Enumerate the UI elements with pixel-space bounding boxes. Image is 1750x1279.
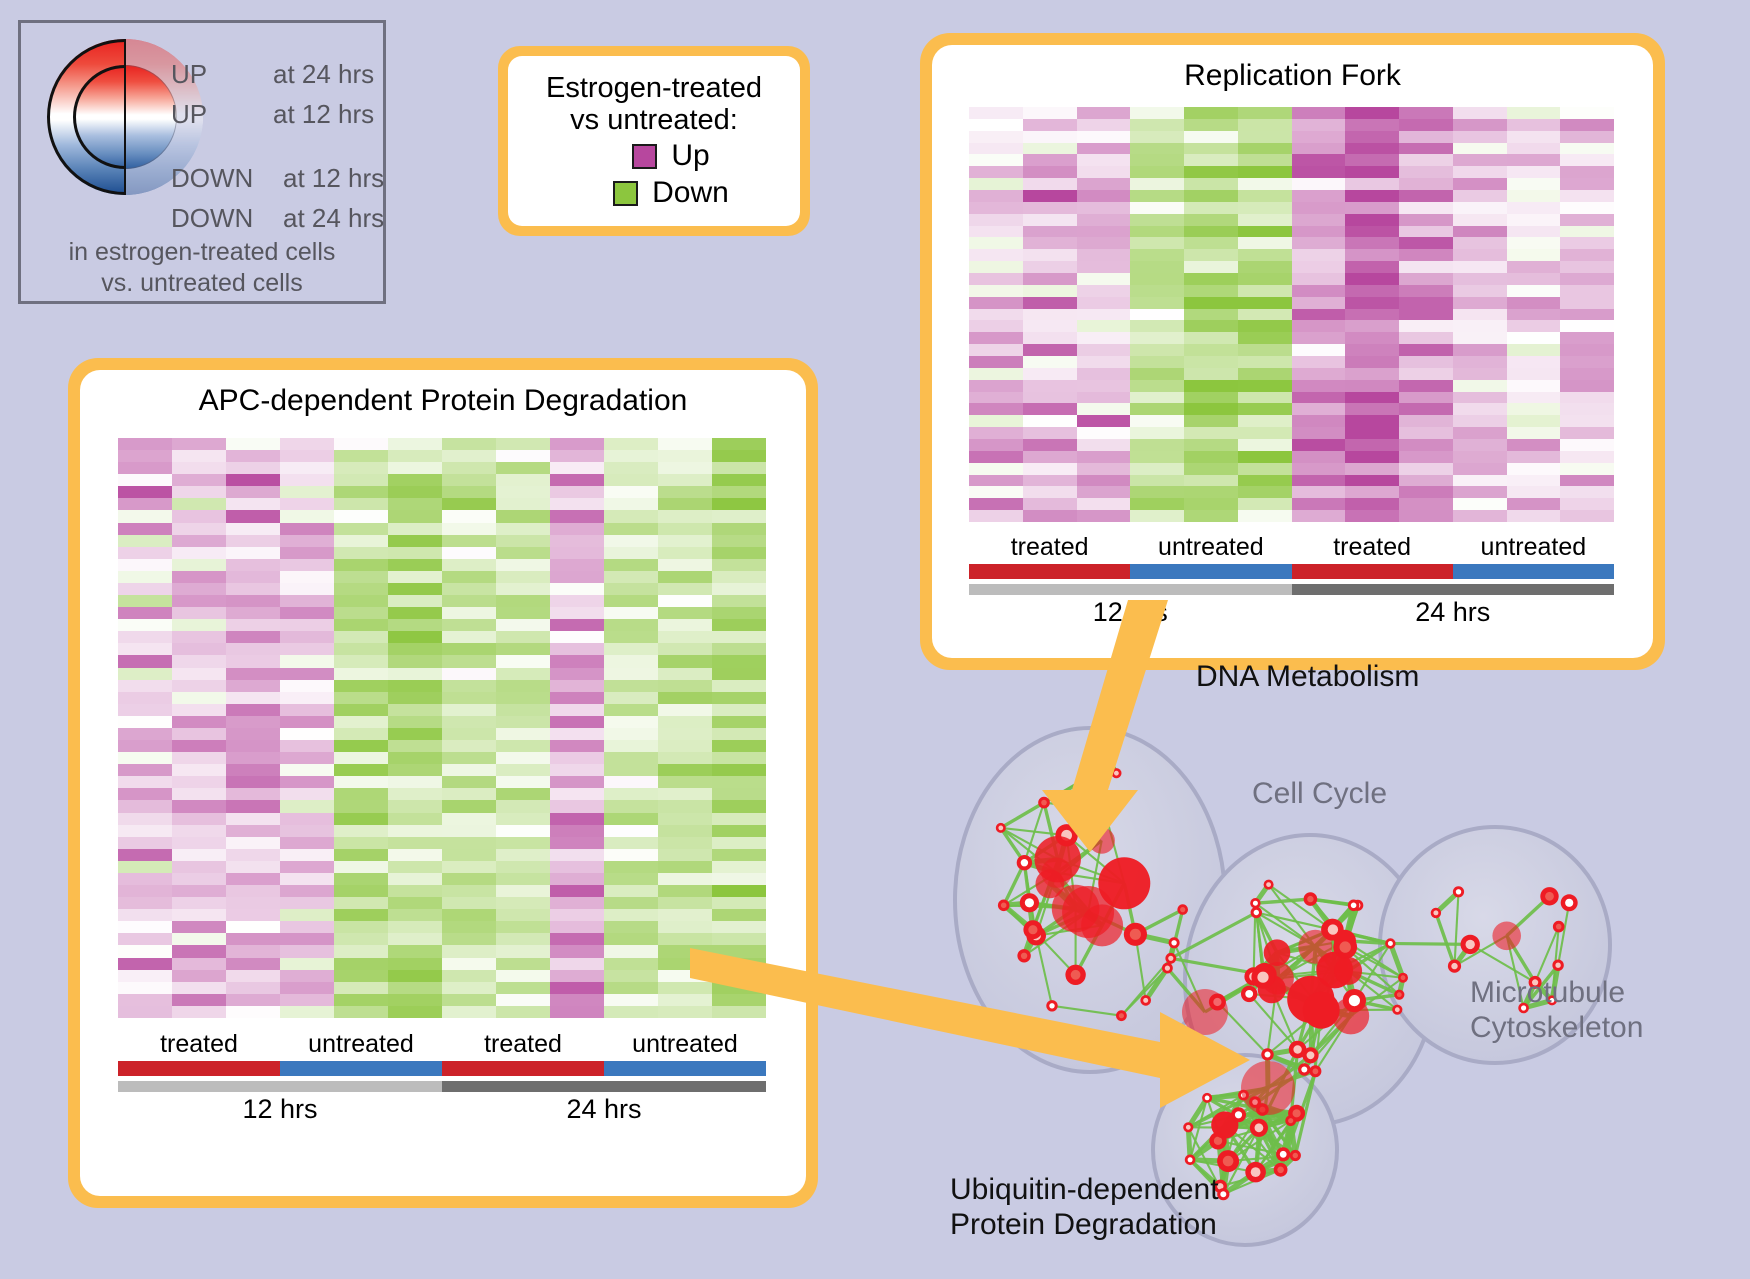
heatmap-cell	[1345, 427, 1399, 439]
heatmap-cell	[1184, 190, 1238, 202]
heatmap-cell	[550, 474, 604, 486]
heatmap-cell	[712, 547, 766, 559]
heatmap-cell	[1507, 273, 1561, 285]
heatmap-cell	[1507, 320, 1561, 332]
heatmap-cell	[1238, 332, 1292, 344]
heatmap-cell	[1184, 463, 1238, 475]
heatmap-cell	[1399, 368, 1453, 380]
heatmap-cell	[1507, 380, 1561, 392]
heatmap-cell	[334, 643, 388, 655]
heatmap-cell	[1238, 463, 1292, 475]
heatmap-cell	[226, 800, 280, 812]
treatment-bar-apc	[118, 1061, 766, 1076]
heatmap-cell	[1507, 309, 1561, 321]
heatmap-cell	[388, 873, 442, 885]
heatmap-cell	[712, 764, 766, 776]
heatmap-cell	[442, 800, 496, 812]
time-label-a0: 12 hrs	[118, 1094, 442, 1125]
heatmap-cell	[1345, 356, 1399, 368]
heatmap-cell	[969, 415, 1023, 427]
heatmap-cell	[658, 704, 712, 716]
heatmap-cell	[172, 474, 226, 486]
heatmap-cell	[226, 909, 280, 921]
heatmap-cell	[1453, 178, 1507, 190]
heatmap-cell	[969, 237, 1023, 249]
heatmap-cell	[172, 728, 226, 740]
heatmap-cell	[1345, 178, 1399, 190]
heatmap-cell	[496, 825, 550, 837]
heatmap-cell	[334, 692, 388, 704]
heatmap-cell	[334, 535, 388, 547]
heatmap-cell	[334, 837, 388, 849]
heatmap-cell	[118, 704, 172, 716]
heatmap-cell	[1399, 332, 1453, 344]
heatmap-cell	[1453, 190, 1507, 202]
heatmap-cell	[712, 740, 766, 752]
heatmap-cell	[550, 510, 604, 522]
heatmap-cell	[604, 607, 658, 619]
heatmap-cell	[172, 788, 226, 800]
heatmap-cell	[118, 740, 172, 752]
heatmap-cell	[604, 921, 658, 933]
heatmap-cell	[604, 933, 658, 945]
heatmap-cell	[1023, 119, 1077, 131]
heatmap-cell	[969, 380, 1023, 392]
heatmap-cell	[388, 559, 442, 571]
heatmap-cell	[226, 728, 280, 740]
heatmap-cell	[496, 571, 550, 583]
heatmap-cell	[658, 619, 712, 631]
heatmap-cell	[1560, 309, 1614, 321]
heatmap-cell	[1560, 356, 1614, 368]
heatmap-cell	[969, 439, 1023, 451]
heatmap-cell	[1130, 261, 1184, 273]
heatmap-cell	[442, 619, 496, 631]
heatmap-cell	[118, 450, 172, 462]
heatmap-cell	[1345, 309, 1399, 321]
heatmap-cell	[334, 861, 388, 873]
heatmap-cell	[1399, 143, 1453, 155]
sample-labels-apc: treated untreated treated untreated	[118, 1030, 766, 1059]
heatmap-cell	[334, 704, 388, 716]
heatmap-cell	[712, 523, 766, 535]
heatmap-cell	[172, 680, 226, 692]
heatmap-cell	[1077, 486, 1131, 498]
heatmap-cell	[658, 692, 712, 704]
heatmap-cell	[658, 849, 712, 861]
heatmap-cell	[388, 486, 442, 498]
heatmap-cell	[1560, 297, 1614, 309]
heatmap-cell	[496, 921, 550, 933]
heatmap-cell	[712, 885, 766, 897]
heatmap-cell	[550, 450, 604, 462]
heatmap-cell	[604, 547, 658, 559]
heatmap-cell	[334, 595, 388, 607]
heatmap-cell	[388, 1006, 442, 1018]
heatmap-cell	[280, 933, 334, 945]
cluster-label-microtubule-cytoskeleton: Microtubule Cytoskeleton	[1470, 975, 1643, 1046]
heatmap-cell	[1345, 510, 1399, 522]
time-bar-replication	[969, 584, 1614, 595]
heatmap-cell	[1023, 380, 1077, 392]
heatmap-cell	[1399, 202, 1453, 214]
heatmap-cell	[226, 813, 280, 825]
heatmap-cell	[118, 655, 172, 667]
heatmap-cell	[1345, 439, 1399, 451]
heatmap-cell	[280, 583, 334, 595]
heatmap-cell	[550, 571, 604, 583]
heatmap-cell	[118, 486, 172, 498]
heatmap-cell	[1130, 498, 1184, 510]
heatmap-cell	[1184, 131, 1238, 143]
heatmap-cell	[1130, 273, 1184, 285]
updown-legend-card: Estrogen-treated vs untreated: Up Down	[498, 46, 810, 236]
heatmap-cell	[442, 668, 496, 680]
heatmap-cell	[1184, 403, 1238, 415]
heatmap-cell	[604, 474, 658, 486]
heatmap-cell	[388, 945, 442, 957]
heatmap-cell	[118, 800, 172, 812]
heatmap-cell	[1453, 320, 1507, 332]
heatmap-cell	[388, 583, 442, 595]
heatmap-cell	[226, 752, 280, 764]
heatmap-cell	[1453, 332, 1507, 344]
heatmap-cell	[1238, 261, 1292, 273]
network-node	[1334, 957, 1362, 985]
heatmap-cell	[496, 692, 550, 704]
sample-label-a1: untreated	[280, 1030, 442, 1059]
heatmap-cell	[1453, 344, 1507, 356]
heatmap-cell	[1077, 403, 1131, 415]
heatmap-cell	[550, 897, 604, 909]
heatmap-cell	[1507, 463, 1561, 475]
heatmap-cell	[1184, 368, 1238, 380]
heatmap-cell	[1238, 368, 1292, 380]
heatmap-cell	[334, 571, 388, 583]
heatmap-cell	[1077, 202, 1131, 214]
heatmap-cell	[1292, 451, 1346, 463]
heatmap-cell	[172, 704, 226, 716]
heatmap-cell	[1023, 261, 1077, 273]
heatmap-cell	[1023, 451, 1077, 463]
network-node-core	[1555, 963, 1560, 968]
heatmap-cell	[496, 716, 550, 728]
heatmap-cell	[604, 728, 658, 740]
heatmap-cell	[172, 631, 226, 643]
heatmap-cell	[226, 643, 280, 655]
heatmap-cell	[388, 921, 442, 933]
heatmap-cell	[604, 716, 658, 728]
heatmap-cell	[550, 704, 604, 716]
heatmap-cell	[280, 873, 334, 885]
heatmap-cell	[442, 655, 496, 667]
heatmap-cell	[442, 498, 496, 510]
heatmap-cell	[969, 320, 1023, 332]
heatmap-cell	[1560, 368, 1614, 380]
heatmap-cell	[172, 438, 226, 450]
heatmap-cell	[969, 154, 1023, 166]
heatmap-cell	[334, 982, 388, 994]
heatmap-cell	[1130, 178, 1184, 190]
heatmap-cell	[969, 297, 1023, 309]
heatmap-cell	[280, 994, 334, 1006]
heatmap-cell	[118, 631, 172, 643]
heatmap-cell	[1184, 214, 1238, 226]
heatmap-cell	[550, 1006, 604, 1018]
heatmap-cell	[1184, 273, 1238, 285]
heatmap-cell	[1345, 166, 1399, 178]
heatmap-cell	[388, 813, 442, 825]
heatmap-cell	[496, 897, 550, 909]
heatmap-cell	[334, 740, 388, 752]
heatmap-cell	[1507, 131, 1561, 143]
heatmap-cell	[442, 897, 496, 909]
heatmap-cell	[442, 740, 496, 752]
heatmap-cell	[550, 970, 604, 982]
heatmap-cell	[1345, 131, 1399, 143]
heatmap-cell	[1023, 486, 1077, 498]
heatmap-cell	[1453, 154, 1507, 166]
heatmap-cell	[118, 933, 172, 945]
heatmap-cell	[442, 510, 496, 522]
heatmap-cell	[118, 776, 172, 788]
heatmap-cell	[172, 595, 226, 607]
heatmap-cell	[1507, 297, 1561, 309]
heatmap-cell	[1453, 510, 1507, 522]
heatmap-cell	[1023, 273, 1077, 285]
heatmap-cell	[1023, 214, 1077, 226]
legend-item-up: Up	[598, 139, 709, 173]
heatmap-cell	[1560, 475, 1614, 487]
ring-divider	[124, 39, 126, 195]
up-swatch-icon	[632, 144, 657, 169]
heatmap-cell	[712, 668, 766, 680]
heatmap-cell	[1184, 297, 1238, 309]
heatmap-cell	[388, 704, 442, 716]
heatmap-cell	[280, 571, 334, 583]
annotation-apc: treated untreated treated untreated 12 h	[118, 1030, 766, 1125]
heatmap-cell	[496, 704, 550, 716]
heatmap-cell	[712, 631, 766, 643]
heatmap-cell	[388, 668, 442, 680]
heatmap-cell	[334, 873, 388, 885]
heatmap-cell	[1399, 320, 1453, 332]
heatmap-cell	[118, 764, 172, 776]
sample-label-r3: untreated	[1453, 533, 1614, 562]
heatmap-cell	[550, 933, 604, 945]
heatmap-cell	[496, 837, 550, 849]
heatmap-cell	[1507, 344, 1561, 356]
heatmap-cell	[1507, 261, 1561, 273]
heatmap-cell	[712, 849, 766, 861]
heatmap-cell	[604, 861, 658, 873]
treatment-seg-a2	[442, 1061, 604, 1076]
heatmap-cell	[1399, 166, 1453, 178]
heatmap-cell	[496, 535, 550, 547]
time-labels-apc: 12 hrs 24 hrs	[118, 1094, 766, 1125]
heatmap-cell	[604, 1006, 658, 1018]
heatmap-cell	[226, 547, 280, 559]
heatmap-cell	[334, 559, 388, 571]
heatmap-cell	[1077, 475, 1131, 487]
heatmap-cell	[1238, 510, 1292, 522]
heatmap-cell	[334, 764, 388, 776]
heatmap-cell	[496, 776, 550, 788]
heatmap-cell	[1507, 439, 1561, 451]
heatmap-cell	[118, 945, 172, 957]
heatmap-cell	[1077, 285, 1131, 297]
network-node-core	[1351, 903, 1357, 909]
heatmap-cell	[1130, 463, 1184, 475]
heatmap-cell	[1345, 143, 1399, 155]
heatmap-cell	[496, 752, 550, 764]
heatmap-cell	[118, 873, 172, 885]
heatmap-cell	[712, 800, 766, 812]
heatmap-cell	[334, 486, 388, 498]
heatmap-cell	[280, 680, 334, 692]
heatmap-cell	[550, 813, 604, 825]
heatmap-cell	[388, 958, 442, 970]
heatmap-cell	[1184, 285, 1238, 297]
heatmap-cell	[496, 873, 550, 885]
network-node-core	[1395, 1007, 1400, 1012]
heatmap-cell	[550, 486, 604, 498]
heatmap-cell	[1453, 226, 1507, 238]
heatmap-cell	[388, 909, 442, 921]
heatmap-cell	[226, 970, 280, 982]
key-time-2: at 12 hrs	[283, 163, 384, 194]
heatmap-cell	[118, 788, 172, 800]
heatmap-cell	[1560, 249, 1614, 261]
heatmap-cell	[280, 958, 334, 970]
heatmap-cell	[1345, 368, 1399, 380]
heatmap-cell	[280, 655, 334, 667]
heatmap-cell	[1453, 143, 1507, 155]
heatmap-cell	[604, 462, 658, 474]
heatmap-cell	[712, 535, 766, 547]
network-node-core	[1456, 889, 1461, 894]
heatmap-cell	[550, 547, 604, 559]
heatmap-cell	[604, 837, 658, 849]
heatmap-cell	[226, 945, 280, 957]
heatmap-cell	[388, 825, 442, 837]
heatmap-cell	[550, 631, 604, 643]
heatmap-cell	[658, 571, 712, 583]
heatmap-cell	[1453, 285, 1507, 297]
heatmap-cell	[226, 595, 280, 607]
heatmap-cell	[1077, 166, 1131, 178]
heatmap-cell	[388, 523, 442, 535]
heatmap-cell	[226, 535, 280, 547]
heatmap-cell	[172, 462, 226, 474]
heatmap-cell	[388, 571, 442, 583]
heatmap-cell	[1560, 415, 1614, 427]
heatmap-cell	[1507, 332, 1561, 344]
network-node-core	[1277, 1167, 1284, 1174]
heatmap-cell	[1560, 237, 1614, 249]
heatmap-cell	[1238, 356, 1292, 368]
heatmap-cell	[280, 825, 334, 837]
heatmap-cell	[118, 982, 172, 994]
heatmap-cell	[712, 788, 766, 800]
heatmap-cell	[712, 655, 766, 667]
heatmap-cell	[969, 273, 1023, 285]
heatmap-cell	[280, 1006, 334, 1018]
heatmap-cell	[226, 837, 280, 849]
network-node-core	[1340, 941, 1351, 952]
heatmap-cell	[604, 510, 658, 522]
heatmap-cell	[550, 692, 604, 704]
heatmap-cell	[1077, 119, 1131, 131]
heatmap-cell	[1238, 107, 1292, 119]
heatmap-cell	[1399, 214, 1453, 226]
heatmap-cell	[1507, 498, 1561, 510]
heatmap-cell	[226, 607, 280, 619]
heatmap-cell	[226, 583, 280, 595]
heatmap-cell	[442, 752, 496, 764]
heatmap-cell	[1238, 475, 1292, 487]
heatmap-cell	[388, 438, 442, 450]
heatmap-cell	[226, 885, 280, 897]
heatmap-cell	[1507, 285, 1561, 297]
heatmap-cell	[1023, 356, 1077, 368]
heatmap-cell	[172, 933, 226, 945]
heatmap-cell	[658, 800, 712, 812]
heatmap-cell	[334, 825, 388, 837]
heatmap-cell	[226, 897, 280, 909]
heatmap-cell	[1077, 439, 1131, 451]
heatmap-cell	[226, 740, 280, 752]
heatmap-cell	[388, 547, 442, 559]
heatmap-cell	[550, 716, 604, 728]
heatmap-cell	[1453, 451, 1507, 463]
heatmap-cell	[118, 1006, 172, 1018]
heatmap-cell	[604, 776, 658, 788]
heatmap-cell	[550, 680, 604, 692]
heatmap-cell	[1077, 107, 1131, 119]
heatmap-cell	[1077, 451, 1131, 463]
heatmap-cell	[280, 643, 334, 655]
heatmap-cell	[604, 583, 658, 595]
heatmap-cell	[496, 619, 550, 631]
heatmap-cell	[604, 450, 658, 462]
heatmap-cell	[1292, 309, 1346, 321]
heatmap-cell	[1130, 214, 1184, 226]
heatmap-cell	[1560, 332, 1614, 344]
heatmap-cell	[1184, 451, 1238, 463]
heatmap-cell	[442, 450, 496, 462]
heatmap-cell	[712, 873, 766, 885]
heatmap-cell	[1292, 131, 1346, 143]
heatmap-cell	[172, 607, 226, 619]
heatmap-cell	[1453, 475, 1507, 487]
heatmap-cell	[550, 462, 604, 474]
heatmap-cell	[658, 813, 712, 825]
heatmap-cell	[1399, 380, 1453, 392]
panel-title-apc: APC-dependent Protein Degradation	[80, 370, 806, 418]
heatmap-cell	[1292, 439, 1346, 451]
heatmap-cell	[1345, 273, 1399, 285]
heatmap-cell	[1453, 486, 1507, 498]
legend-title-line-1: Estrogen-treated	[546, 72, 762, 104]
sample-labels-replication: treated untreated treated untreated	[969, 533, 1614, 562]
heatmap-cell	[442, 595, 496, 607]
heatmap-cell	[118, 643, 172, 655]
heatmap-cell	[1345, 297, 1399, 309]
network-node-core	[1307, 896, 1313, 902]
heatmap-cell	[1238, 237, 1292, 249]
heatmap-cell	[1077, 178, 1131, 190]
